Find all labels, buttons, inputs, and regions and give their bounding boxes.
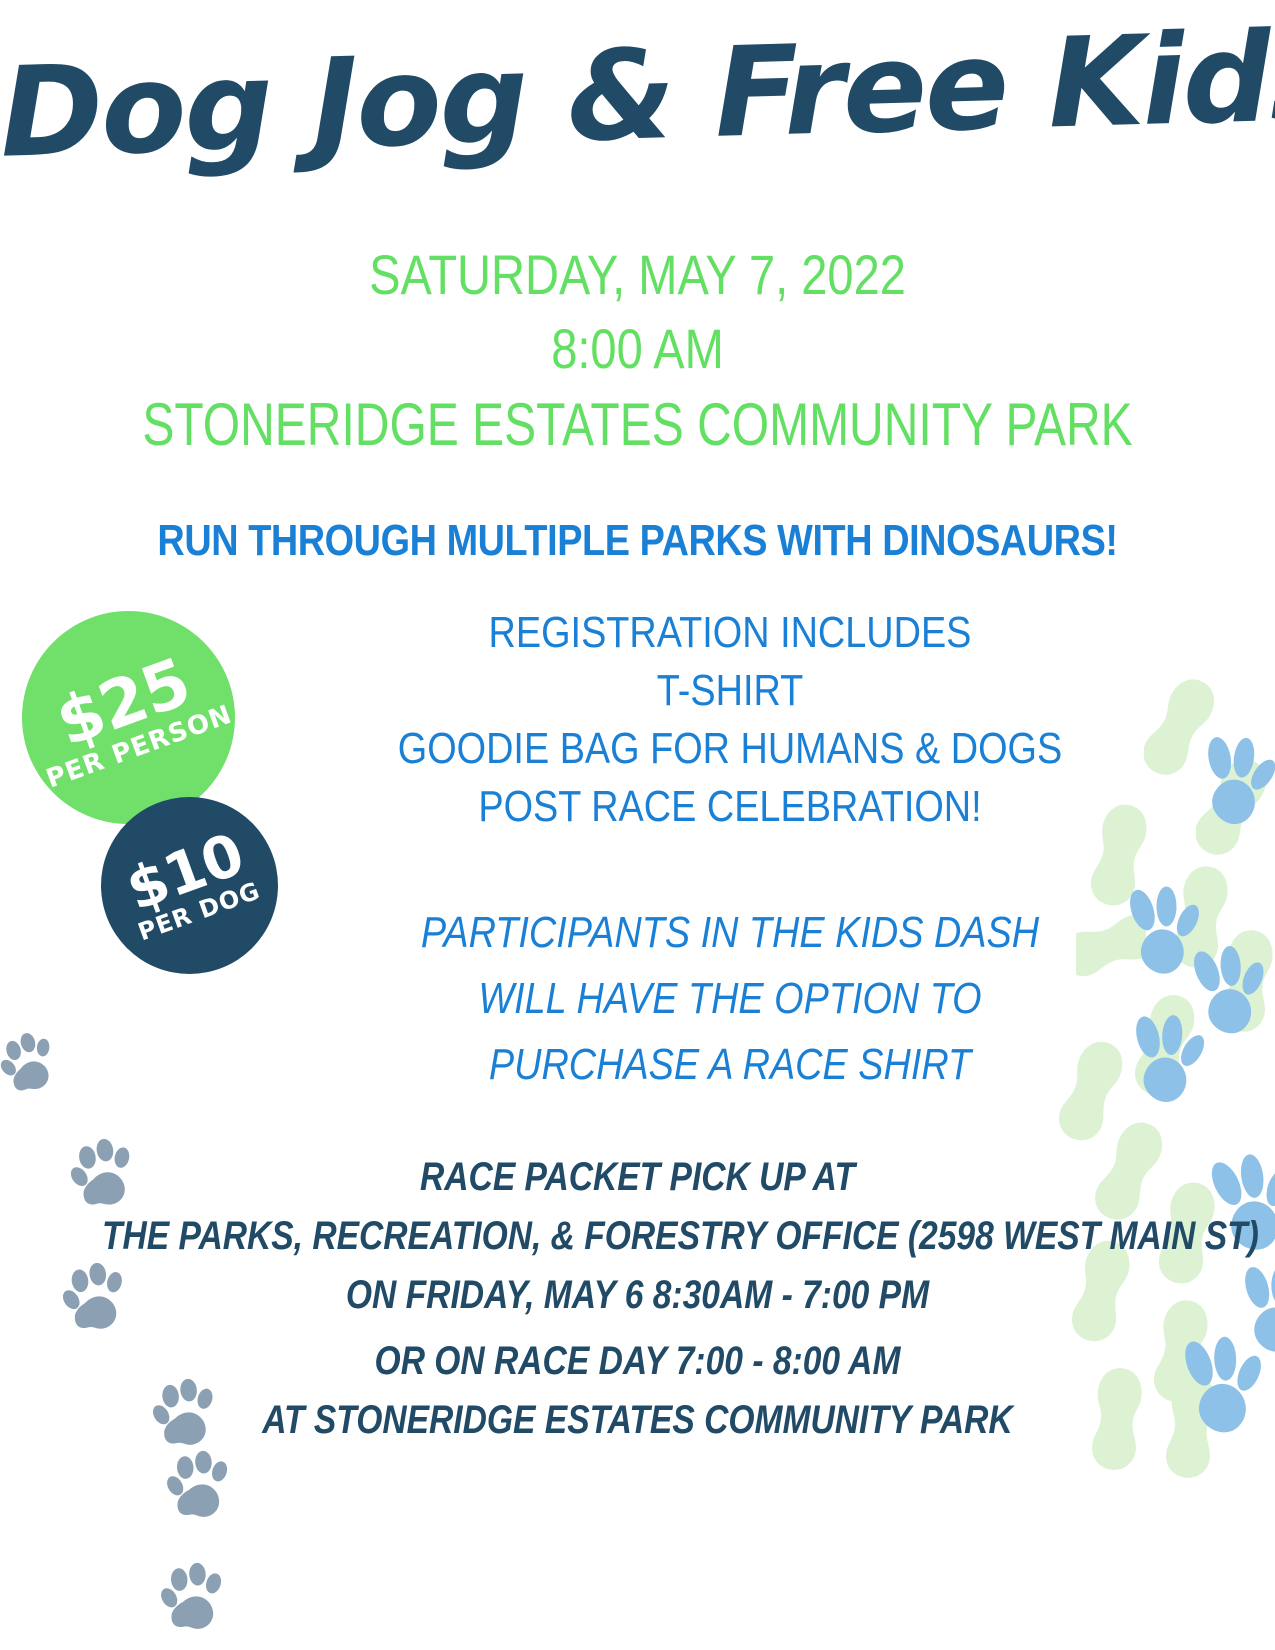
kids-dash-line: PURCHASE A RACE SHIRT [300,1032,1160,1098]
price-badge-per-person: $25 PER PERSON [22,611,235,824]
paw-print-icon [166,1450,238,1522]
packet-pickup-line: THE PARKS, RECREATION, & FORESTRY OFFICE… [102,1207,1173,1266]
price-badge-inner: $10 PER DOG [115,824,264,947]
event-headline: RUN THROUGH MULTIPLE PARKS WITH DINOSAUR… [89,516,1186,566]
price-badge-per-dog: $10 PER DOG [101,797,278,974]
event-time: 8:00 AM [102,312,1173,386]
registration-includes: REGISTRATION INCLUDES T-SHIRT GOODIE BAG… [230,604,1230,836]
page-title: Dog Jog & Free Kids Dash Too! [0,16,1275,176]
paw-print-icon [0,1032,62,1094]
kids-dash-note: PARTICIPANTS IN THE KIDS DASH WILL HAVE … [230,900,1230,1098]
event-details: SATURDAY, MAY 7, 2022 8:00 AM STONERIDGE… [0,238,1275,464]
kids-dash-line: WILL HAVE THE OPTION TO [300,966,1160,1032]
registration-line: REGISTRATION INCLUDES [300,604,1160,662]
event-date: SATURDAY, MAY 7, 2022 [102,238,1173,312]
price-badge-inner: $25 PER PERSON [21,640,237,795]
packet-pickup-info: RACE PACKET PICK UP AT THE PARKS, RECREA… [0,1148,1275,1326]
race-day-line: AT STONERIDGE ESTATES COMMUNITY PARK [102,1391,1173,1450]
paw-print-icon [160,1562,232,1634]
kids-dash-line: PARTICIPANTS IN THE KIDS DASH [300,900,1160,966]
registration-line: POST RACE CELEBRATION! [300,778,1160,836]
packet-pickup-line: RACE PACKET PICK UP AT [102,1148,1173,1207]
registration-line: T-SHIRT [300,662,1160,720]
race-day-pickup-info: OR ON RACE DAY 7:00 - 8:00 AM AT STONERI… [0,1332,1275,1450]
flyer-title-wrap: Dog Jog & Free Kids Dash Too! [0,34,1275,158]
registration-line: GOODIE BAG FOR HUMANS & DOGS [300,720,1160,778]
flyer-page: Dog Jog & Free Kids Dash Too! SATURDAY, … [0,0,1275,1650]
race-day-line: OR ON RACE DAY 7:00 - 8:00 AM [102,1332,1173,1391]
packet-pickup-line: ON FRIDAY, MAY 6 8:30AM - 7:00 PM [102,1266,1173,1325]
event-location: STONERIDGE ESTATES COMMUNITY PARK [128,386,1148,464]
